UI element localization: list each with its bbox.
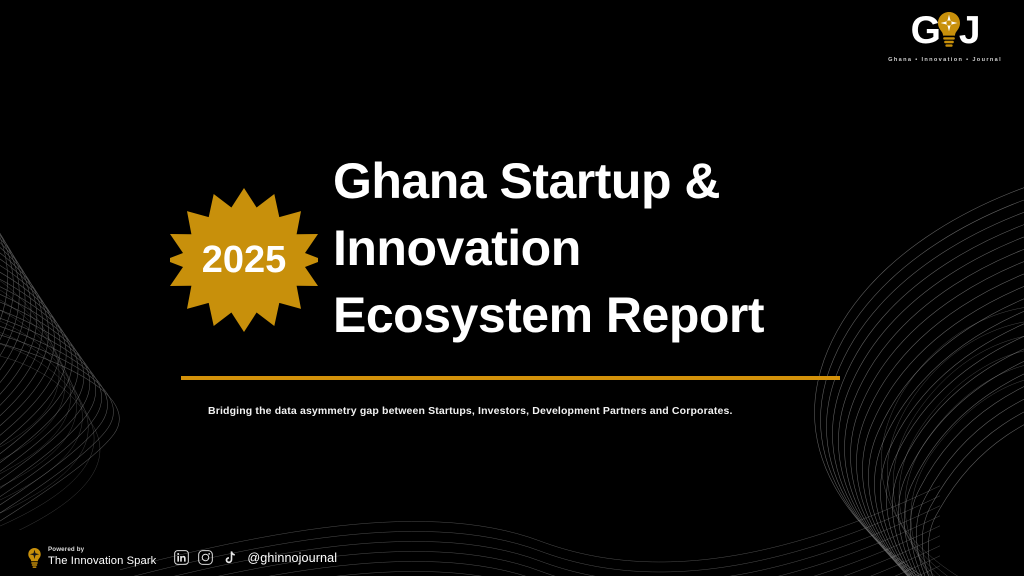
powered-by-block: Powered by The Innovation Spark (27, 547, 156, 568)
brand-letter-j: J (959, 11, 980, 50)
page-title-line-2: Innovation (333, 215, 853, 282)
page-title-line-1: Ghana Startup & (333, 148, 853, 215)
gold-divider (181, 376, 840, 380)
powered-by-name: The Innovation Spark (48, 555, 156, 567)
brand-logo: G J Ghana • Innovation • Journal (888, 8, 1002, 63)
presentation-slide: G J Ghana • Innovation • Journal 2025 Gh… (0, 0, 1024, 576)
linkedin-icon[interactable] (174, 550, 189, 565)
social-links: @ghinnojournal (174, 550, 337, 565)
instagram-icon[interactable] (198, 550, 213, 565)
powered-by-text: Powered by The Innovation Spark (48, 547, 156, 567)
page-title: Ghana Startup & Innovation Ecosystem Rep… (333, 148, 853, 349)
social-handle[interactable]: @ghinnojournal (247, 551, 337, 565)
brand-tagline: Ghana • Innovation • Journal (888, 57, 1002, 63)
footer: Powered by The Innovation Spark @ghinnoj… (27, 547, 337, 568)
lightbulb-icon (27, 547, 42, 568)
page-title-line-3: Ecosystem Report (333, 282, 853, 349)
subtitle: Bridging the data asymmetry gap between … (208, 402, 816, 420)
tiktok-icon[interactable] (222, 550, 237, 565)
year-badge: 2025 (170, 186, 318, 334)
year-badge-label: 2025 (202, 241, 287, 279)
brand-logo-mark: G J (911, 8, 980, 52)
powered-by-label: Powered by (48, 547, 156, 554)
